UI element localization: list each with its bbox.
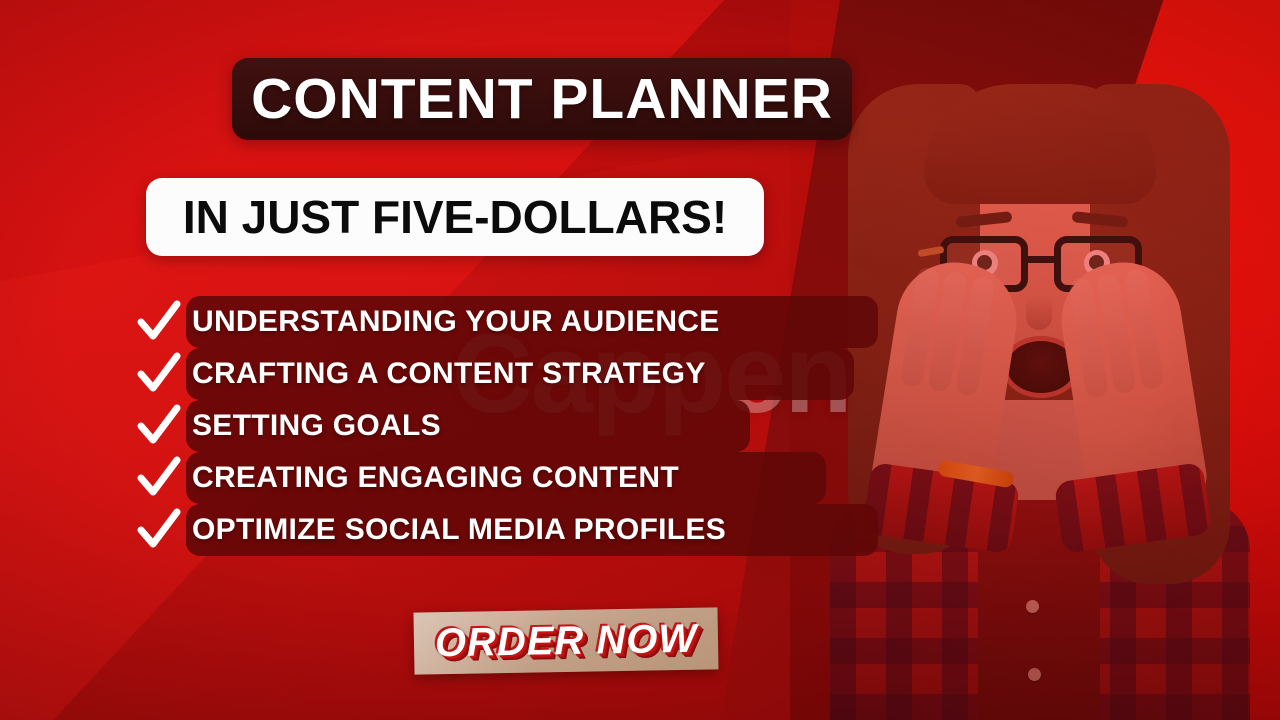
check-icon — [136, 455, 182, 501]
feature-list: UNDERSTANDING YOUR AUDIENCE CRAFTING A C… — [138, 296, 878, 566]
list-item: UNDERSTANDING YOUR AUDIENCE — [138, 296, 720, 348]
feature-label: OPTIMIZE SOCIAL MEDIA PROFILES — [192, 513, 726, 547]
feature-label: SETTING GOALS — [192, 409, 441, 443]
feature-label: CREATING ENGAGING CONTENT — [192, 461, 679, 495]
check-icon — [136, 351, 182, 397]
list-item: CRAFTING A CONTENT STRATEGY — [138, 348, 706, 400]
check-icon — [136, 403, 182, 449]
subtitle-banner: IN JUST FIVE-DOLLARS! — [146, 178, 764, 256]
list-item: CREATING ENGAGING CONTENT — [138, 452, 679, 504]
subtitle-text: IN JUST FIVE-DOLLARS! — [183, 190, 727, 244]
feature-label: UNDERSTANDING YOUR AUDIENCE — [192, 305, 720, 339]
order-now-button[interactable]: ORDER NOW — [414, 609, 719, 672]
list-item: OPTIMIZE SOCIAL MEDIA PROFILES — [138, 504, 726, 556]
feature-label: CRAFTING A CONTENT STRATEGY — [192, 357, 706, 391]
page-title: CONTENT PLANNER — [251, 66, 833, 132]
check-icon — [136, 299, 182, 345]
advertisement-banner: Cappen CONTENT PLANNER IN JUST FIVE-DOLL… — [0, 0, 1280, 720]
title-banner: CONTENT PLANNER — [232, 58, 852, 140]
list-item: SETTING GOALS — [138, 400, 441, 452]
check-icon — [136, 507, 182, 553]
